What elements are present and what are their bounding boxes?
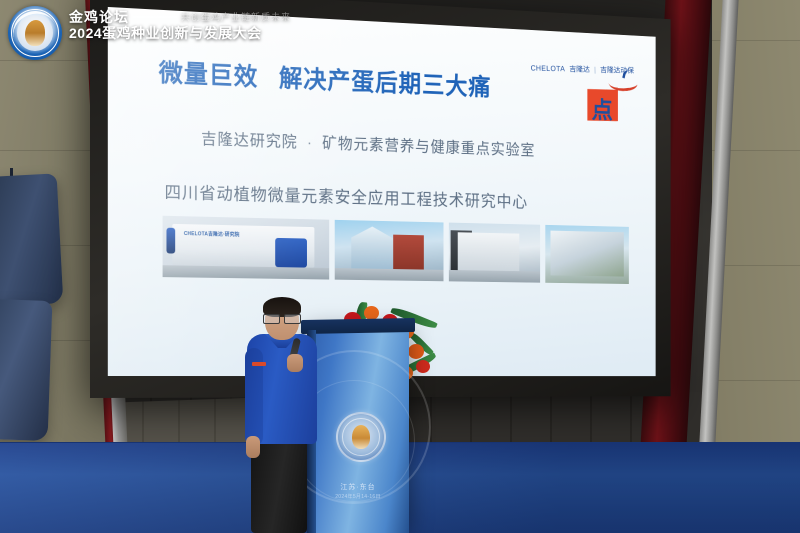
subtitle-institute: 吉隆达研究院 — [201, 131, 297, 151]
slide-title-sub: 解决产蛋后期三大痛 — [279, 65, 491, 101]
facility-glass-building-photo — [335, 220, 444, 281]
subtitle-lab: 矿物元素营养与健康重点实验室 — [322, 136, 535, 160]
facility-truck-photo: CHELOTA吉隆达·研究院 — [163, 216, 330, 280]
podium-date-label: 2024年5月14-16日 — [307, 493, 409, 500]
presenter — [243, 300, 321, 533]
speaker-podium: 江苏·东台 2024年5月14-16日 — [307, 330, 409, 533]
facility-aerial-campus-photo — [545, 225, 629, 284]
photo-person — [166, 228, 175, 254]
podium-city-label: 江苏·东台 — [307, 482, 409, 492]
slide-title-last-char: 点 — [592, 92, 613, 126]
truck-caption: CHELOTA吉隆达·研究院 — [184, 230, 240, 238]
photo-ground — [449, 270, 540, 283]
presenter-shirt-logo — [252, 362, 266, 366]
overlay-rule — [133, 16, 177, 18]
slide-title-main: 微量巨效 — [159, 59, 259, 91]
podium-conference-emblem — [336, 412, 386, 462]
aerial-campus — [550, 231, 623, 277]
overlay-title-line1: 金鸡论坛 共创蛋鸡产业链新质未来 — [69, 9, 291, 25]
photo-ground — [163, 265, 330, 279]
overlay-tagline: 共创蛋鸡产业链新质未来 — [181, 12, 291, 22]
glass-building — [351, 226, 393, 271]
hanging-fabric-lower — [0, 299, 52, 441]
facility-photo-strip: CHELOTA吉隆达·研究院 — [163, 216, 626, 284]
conference-photo-scene: 微量巨效解决产蛋后期三大痛 点 CHELOTA 吉隆达 | 吉隆达动保 吉隆达研… — [0, 0, 800, 533]
brand-logo: CHELOTA 吉隆达 | 吉隆达动保 — [530, 63, 634, 76]
truck-cab — [275, 238, 307, 268]
subtitle-dot: · — [298, 132, 322, 156]
presenter-right-hand — [287, 354, 303, 372]
overlay-forum-name: 金鸡论坛 — [69, 9, 129, 25]
slide-subtitle-line1: 吉隆达研究院·矿物元素营养与健康重点实验室 — [201, 128, 535, 163]
eyeglasses-icon — [263, 314, 301, 322]
slide-subtitle-line2: 四川省动植物微量元素安全应用工程技术研究中心 — [165, 178, 528, 212]
brand-logo-separator: | — [594, 66, 596, 74]
brand-logo-en: CHELOTA — [530, 64, 565, 73]
hanging-fabric-upper — [0, 173, 63, 306]
broadcast-overlay: 金鸡论坛 共创蛋鸡产业链新质未来 2024蛋鸡种业创新与发展大会 — [8, 6, 291, 60]
red-brick-building — [393, 235, 424, 272]
white-building — [458, 232, 520, 271]
brand-logo-cn: 吉隆达 — [569, 64, 590, 75]
presenter-left-hand — [246, 436, 260, 458]
golden-rooster-forum-emblem — [8, 6, 62, 60]
facility-white-building-photo — [449, 223, 540, 283]
slide-title: 微量巨效解决产蛋后期三大痛 — [159, 53, 492, 103]
overlay-conference-name: 2024蛋鸡种业创新与发展大会 — [69, 25, 291, 43]
photo-ground — [335, 268, 444, 281]
